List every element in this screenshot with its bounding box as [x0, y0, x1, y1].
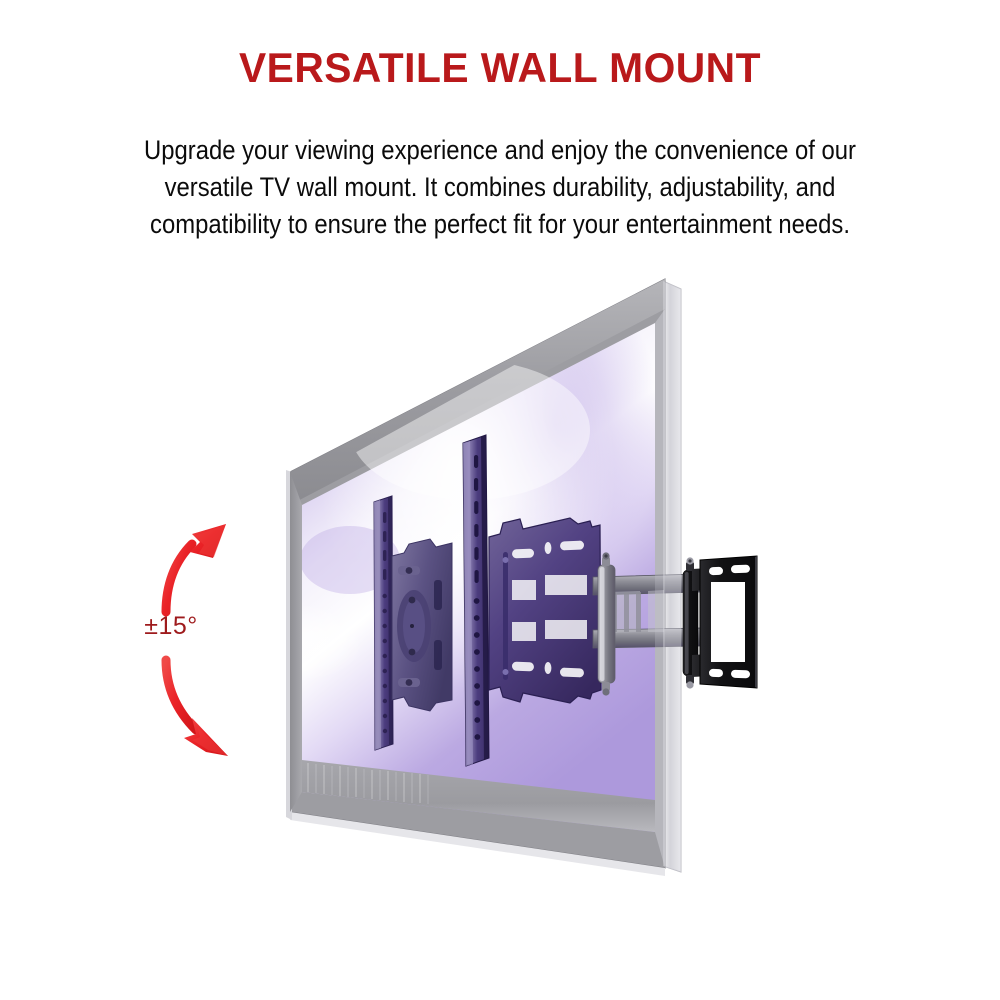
wall-mount-plate	[692, 556, 757, 688]
left-vertical-rail	[374, 496, 393, 750]
tilt-bracket-plate	[392, 539, 452, 711]
vesa-slider-track	[503, 552, 508, 680]
tv-edge-depth-overlay	[663, 281, 681, 872]
tv-left-bezel	[290, 472, 302, 812]
tilt-down-arrow	[166, 660, 228, 756]
tilt-range-label: ±15°	[116, 612, 226, 641]
product-description: Upgrade your viewing experience and enjo…	[109, 132, 890, 243]
product-banner: VERSATILE WALL MOUNT Upgrade your viewin…	[0, 0, 1000, 1000]
page-title: VERSATILE WALL MOUNT	[15, 44, 985, 92]
wall-plate-window	[711, 582, 745, 662]
vesa-bolt-top	[503, 557, 509, 563]
center-vertical-rail	[463, 435, 489, 766]
tilt-up-arrow	[166, 524, 226, 612]
vesa-bolt-bottom	[503, 669, 509, 675]
tilt-range-annotation: ±15°	[100, 490, 290, 780]
vesa-bracket-plate	[489, 518, 601, 703]
arm-pivot-post	[598, 552, 615, 695]
